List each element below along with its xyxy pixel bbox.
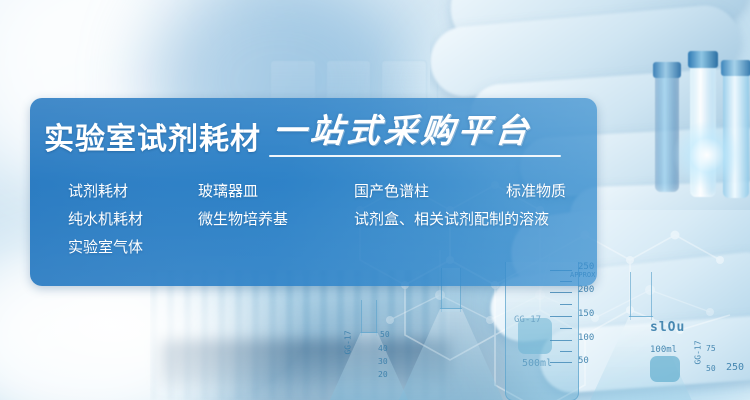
brush-title-wrap: 一站式采购平台 <box>273 116 532 155</box>
brush-title-underline <box>269 155 561 157</box>
flask-tick-40: 40 <box>378 344 388 353</box>
flask-tick-20: 20 <box>378 370 388 379</box>
category-row: 试剂耗材 玻璃器皿 国产色谱柱 标准物质 <box>38 178 594 206</box>
flask-brand-left-label: GG-17 <box>344 330 353 354</box>
category-item[interactable]: 试剂耗材 <box>68 178 128 206</box>
category-list: 试剂耗材 玻璃器皿 国产色谱柱 标准物质 纯水机耗材 微生物培养基 试剂盒、相关… <box>38 178 594 262</box>
category-row: 纯水机耗材 微生物培养基 试剂盒、相关试剂配制的溶液 <box>38 206 594 234</box>
beaker-tick-50: 50 <box>578 356 589 366</box>
category-item[interactable]: 国产色谱柱 <box>354 178 429 206</box>
beaker-tick-200: 200 <box>578 285 594 295</box>
banner-title: 实验室试剂耗材 一站式采购平台 <box>44 116 532 155</box>
flask-right-label-patch <box>650 356 680 382</box>
beaker-tick-100: 100 <box>578 333 594 343</box>
category-item[interactable]: 玻璃器皿 <box>198 178 258 206</box>
category-item[interactable]: 标准物质 <box>506 178 566 206</box>
flask-right-tick-75: 75 <box>706 344 716 353</box>
category-row: 实验室气体 <box>38 234 594 262</box>
category-item[interactable]: 纯水机耗材 <box>68 206 143 234</box>
brush-title: 一站式采购平台 <box>272 116 534 149</box>
category-item[interactable]: 实验室气体 <box>68 234 143 262</box>
far-right-tick-250: 250 <box>726 362 744 373</box>
flask-tick-30: 30 <box>378 357 388 366</box>
flask-tick-50: 50 <box>380 330 390 339</box>
promo-panel: 实验室试剂耗材 一站式采购平台 试剂耗材 玻璃器皿 国产色谱柱 标准物质 纯水机… <box>30 98 597 286</box>
flask-right-tick-50: 50 <box>706 364 716 373</box>
page-title: 实验室试剂耗材 <box>44 125 261 155</box>
category-item[interactable]: 试剂盒、相关试剂配制的溶液 <box>354 206 549 234</box>
flask-right-brand-label: slOu <box>650 320 685 335</box>
beaker-tick-150: 150 <box>578 309 594 319</box>
category-item[interactable]: 微生物培养基 <box>198 206 288 234</box>
flask-right-code: GG-17 <box>694 340 703 364</box>
promo-banner: GG-17 50 40 30 20 GG-17 500ml 250 APPROX… <box>0 0 750 400</box>
flask-right-volume: 100ml <box>650 345 677 355</box>
